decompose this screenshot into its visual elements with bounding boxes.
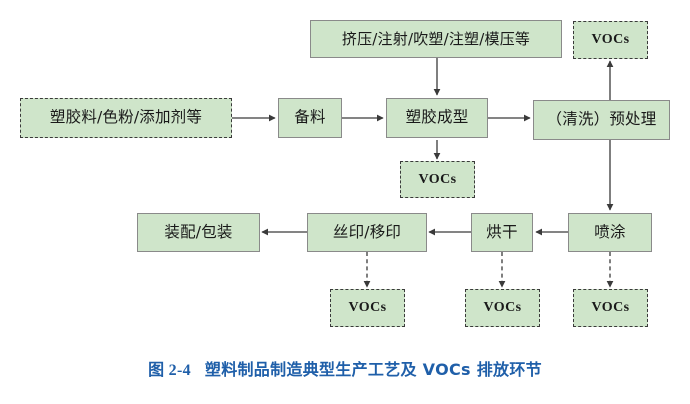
node-drying: 烘干 bbox=[471, 213, 533, 252]
figure-caption-number: 图 2-4 bbox=[148, 362, 191, 379]
node-screen-pad-printing-label: 丝印/移印 bbox=[333, 224, 401, 241]
node-vocs-top-right-label: VOCs bbox=[592, 32, 630, 47]
node-pretreatment-label: （清洗）预处理 bbox=[547, 111, 657, 128]
node-vocs-drying: VOCs bbox=[465, 289, 540, 327]
node-material-prep-label: 备料 bbox=[294, 109, 325, 126]
node-molding-methods-label: 挤压/注射/吹塑/注塑/模压等 bbox=[342, 31, 530, 48]
node-vocs-spraying: VOCs bbox=[573, 289, 648, 327]
figure-caption: 图 2-4塑料制品制造典型生产工艺及 VOCs 排放环节 bbox=[0, 356, 690, 380]
node-spraying-label: 喷涂 bbox=[594, 224, 625, 241]
node-vocs-top-right: VOCs bbox=[573, 21, 648, 59]
node-assembly-packaging-label: 装配/包装 bbox=[164, 224, 232, 241]
node-plastic-molding-label: 塑胶成型 bbox=[406, 109, 469, 126]
figure-plastic-voc-flowchart: 挤压/注射/吹塑/注塑/模压等 VOCs 塑胶料/色粉/添加剂等 备料 塑胶成型… bbox=[0, 0, 690, 404]
node-molding-methods: 挤压/注射/吹塑/注塑/模压等 bbox=[310, 20, 562, 58]
node-vocs-molding-label: VOCs bbox=[419, 172, 457, 187]
node-raw-materials: 塑胶料/色粉/添加剂等 bbox=[20, 98, 232, 138]
node-vocs-printing-label: VOCs bbox=[349, 300, 387, 315]
edge-layer bbox=[0, 0, 690, 404]
node-vocs-molding: VOCs bbox=[400, 161, 475, 198]
node-spraying: 喷涂 bbox=[568, 213, 652, 252]
node-vocs-printing: VOCs bbox=[330, 289, 405, 327]
node-raw-materials-label: 塑胶料/色粉/添加剂等 bbox=[50, 109, 202, 126]
figure-caption-text: 塑料制品制造典型生产工艺及 VOCs 排放环节 bbox=[205, 360, 542, 379]
node-assembly-packaging: 装配/包装 bbox=[137, 213, 260, 252]
node-screen-pad-printing: 丝印/移印 bbox=[307, 213, 427, 252]
node-drying-label: 烘干 bbox=[486, 224, 517, 241]
node-vocs-drying-label: VOCs bbox=[484, 300, 522, 315]
node-material-prep: 备料 bbox=[278, 98, 342, 138]
node-vocs-spraying-label: VOCs bbox=[592, 300, 630, 315]
node-pretreatment: （清洗）预处理 bbox=[533, 100, 670, 140]
node-plastic-molding: 塑胶成型 bbox=[386, 98, 488, 138]
